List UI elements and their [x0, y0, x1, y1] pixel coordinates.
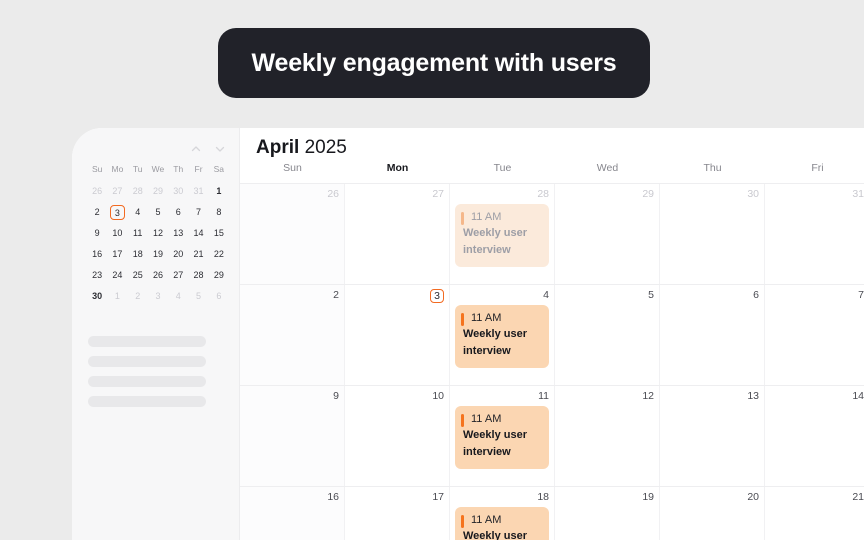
- mini-day[interactable]: 28: [188, 265, 208, 286]
- mini-day-number: 12: [150, 226, 165, 241]
- mini-day-number: 4: [171, 289, 186, 304]
- skeleton-bar: [88, 396, 206, 407]
- mini-day[interactable]: 14: [188, 223, 208, 244]
- mini-day-number: 29: [211, 268, 226, 283]
- mini-weekday-sa: Sa: [209, 164, 229, 181]
- week-row: 9101111 AMWeekly userinterview12131415: [240, 386, 864, 487]
- mini-day-number: 28: [191, 268, 206, 283]
- mini-day[interactable]: 15: [209, 223, 229, 244]
- day-cell-today[interactable]: 3: [345, 285, 450, 385]
- event-title: Weekly userinterview: [463, 225, 542, 259]
- sidebar: SuMoTuWeThFrSa 2627282930311234567891011…: [72, 128, 240, 540]
- day-number: 12: [560, 390, 654, 403]
- banner-title: Weekly engagement with users: [252, 49, 617, 78]
- mini-week-row: 23242526272829: [87, 265, 229, 286]
- mini-day-number: 27: [171, 268, 186, 283]
- mini-day[interactable]: 29: [209, 265, 229, 286]
- mini-weekday-we: We: [148, 164, 168, 181]
- mini-day-number: 5: [150, 205, 165, 220]
- calendar-main: April 2025 SunMonTueWedThuFriSat 2627281…: [240, 128, 864, 540]
- mini-day[interactable]: 18: [128, 244, 148, 265]
- day-cell[interactable]: 14: [765, 386, 864, 486]
- day-number: 31: [770, 188, 864, 201]
- day-number: 19: [560, 491, 654, 504]
- day-cell[interactable]: 7: [765, 285, 864, 385]
- event-accent-bar: [461, 414, 464, 427]
- mini-day-number: 7: [191, 205, 206, 220]
- skeleton-bar: [88, 376, 206, 387]
- weekday-header-thu: Thu: [660, 162, 765, 183]
- mini-weekday-fr: Fr: [188, 164, 208, 181]
- day-cell[interactable]: 10: [345, 386, 450, 486]
- event-time: 11 AM: [463, 210, 542, 224]
- mini-day-number: 26: [150, 268, 165, 283]
- mini-day-number: 30: [90, 289, 105, 304]
- mini-day[interactable]: 9: [87, 223, 107, 244]
- day-cell[interactable]: 2811 AMWeekly userinterview: [450, 184, 555, 284]
- day-cell[interactable]: 30: [660, 184, 765, 284]
- mini-day[interactable]: 7: [188, 202, 208, 223]
- mini-day-number: 15: [211, 226, 226, 241]
- day-number: 17: [350, 491, 444, 504]
- calendar-app-card: SuMoTuWeThFrSa 2627282930311234567891011…: [72, 128, 864, 540]
- mini-calendar-table: SuMoTuWeThFrSa 2627282930311234567891011…: [87, 164, 229, 307]
- mini-day-number: 13: [171, 226, 186, 241]
- calendar-event[interactable]: 11 AMWeekly userinterview: [455, 406, 549, 469]
- mini-calendar[interactable]: SuMoTuWeThFrSa 2627282930311234567891011…: [87, 164, 229, 307]
- day-number: 30: [665, 188, 759, 201]
- day-number: 3: [350, 289, 444, 302]
- mini-day-number: 2: [130, 289, 145, 304]
- mini-day[interactable]: 26: [148, 265, 168, 286]
- mini-day-number: 1: [110, 289, 125, 304]
- day-number: 20: [665, 491, 759, 504]
- mini-day-number: 17: [110, 247, 125, 262]
- mini-day-number: 24: [110, 268, 125, 283]
- mini-day[interactable]: 16: [87, 244, 107, 265]
- mini-day[interactable]: 6: [168, 202, 188, 223]
- event-time: 11 AM: [463, 513, 542, 527]
- event-accent-bar: [461, 515, 464, 528]
- mini-day-number: 6: [171, 205, 186, 220]
- mini-day-number: 19: [150, 247, 165, 262]
- day-number: 28: [455, 188, 549, 201]
- mini-day-number: 16: [90, 247, 105, 262]
- day-cell[interactable]: 6: [660, 285, 765, 385]
- mini-calendar-nav: [189, 142, 227, 156]
- mini-weekday-th: Th: [168, 164, 188, 181]
- weekday-header-fri: Fri: [765, 162, 864, 183]
- day-cell[interactable]: 16: [240, 487, 345, 540]
- mini-week-row: 16171819202122: [87, 244, 229, 265]
- mini-day[interactable]: 13: [168, 223, 188, 244]
- mini-day[interactable]: 8: [209, 202, 229, 223]
- mini-day-number: 14: [191, 226, 206, 241]
- day-cell[interactable]: 20: [660, 487, 765, 540]
- mini-day-number: 1: [211, 184, 226, 199]
- day-cell[interactable]: 19: [555, 487, 660, 540]
- day-cell[interactable]: 5: [555, 285, 660, 385]
- title-month: April: [256, 137, 299, 158]
- mini-day-number: 5: [191, 289, 206, 304]
- mini-day[interactable]: 24: [107, 265, 127, 286]
- day-cell[interactable]: 12: [555, 386, 660, 486]
- title-year: 2025: [305, 137, 347, 158]
- skeleton-bar: [88, 356, 206, 367]
- mini-day[interactable]: 1: [209, 181, 229, 202]
- day-cell[interactable]: 2: [240, 285, 345, 385]
- mini-day[interactable]: 10: [107, 223, 127, 244]
- sidebar-skeleton-list: [88, 336, 206, 416]
- mini-day-number: 8: [211, 205, 226, 220]
- event-title: Weekly userinterview: [463, 427, 542, 461]
- day-cell[interactable]: 17: [345, 487, 450, 540]
- mini-day[interactable]: 3: [148, 286, 168, 307]
- day-number: 6: [665, 289, 759, 302]
- week-row: 23411 AMWeekly userinterview5678: [240, 285, 864, 386]
- mini-day[interactable]: 20: [168, 244, 188, 265]
- weekday-header-wed: Wed: [555, 162, 660, 183]
- mini-day[interactable]: 28: [128, 181, 148, 202]
- mini-day[interactable]: 31: [188, 181, 208, 202]
- mini-day-number: 27: [110, 184, 125, 199]
- weekday-header-row: SunMonTueWedThuFriSat: [240, 162, 864, 183]
- mini-day[interactable]: 2: [87, 202, 107, 223]
- mini-day-number: 25: [130, 268, 145, 283]
- mini-day-number: 22: [211, 247, 226, 262]
- mini-day[interactable]: 4: [128, 202, 148, 223]
- month-grid: 26272811 AMWeekly userinterview293031123…: [240, 183, 864, 540]
- chevron-up-icon[interactable]: [189, 142, 203, 156]
- mini-day-number: 30: [171, 184, 186, 199]
- day-cell[interactable]: 1811 AMWeekly userinterview: [450, 487, 555, 540]
- event-title: Weekly userinterview: [463, 326, 542, 360]
- event-time: 11 AM: [463, 311, 542, 325]
- day-number: 21: [770, 491, 864, 504]
- mini-day-number: 31: [191, 184, 206, 199]
- mini-day-number: 21: [191, 247, 206, 262]
- mini-week-row: 9101112131415: [87, 223, 229, 244]
- weekday-header-tue: Tue: [450, 162, 555, 183]
- mini-day-number: 28: [130, 184, 145, 199]
- mini-day[interactable]: 27: [107, 181, 127, 202]
- day-cell[interactable]: 13: [660, 386, 765, 486]
- mini-day[interactable]: 6: [209, 286, 229, 307]
- mini-day[interactable]: 27: [168, 265, 188, 286]
- day-number: 27: [350, 188, 444, 201]
- mini-day[interactable]: 19: [148, 244, 168, 265]
- page-title: April 2025: [256, 137, 347, 159]
- event-accent-bar: [461, 212, 464, 225]
- mini-day[interactable]: 26: [87, 181, 107, 202]
- mini-week-row: 2345678: [87, 202, 229, 223]
- mini-day-today[interactable]: 3: [107, 202, 127, 223]
- day-cell[interactable]: 411 AMWeekly userinterview: [450, 285, 555, 385]
- day-cell[interactable]: 9: [240, 386, 345, 486]
- mini-calendar-weekday-row: SuMoTuWeThFrSa: [87, 164, 229, 181]
- mini-day[interactable]: 29: [148, 181, 168, 202]
- mini-day-number: 29: [150, 184, 165, 199]
- day-number: 13: [665, 390, 759, 403]
- mini-day-number: 11: [130, 226, 145, 241]
- chevron-down-icon[interactable]: [213, 142, 227, 156]
- mini-day-number: 2: [90, 205, 105, 220]
- mini-day[interactable]: 30: [87, 286, 107, 307]
- day-number: 18: [455, 491, 549, 504]
- day-cell[interactable]: 1111 AMWeekly userinterview: [450, 386, 555, 486]
- mini-week-row: 30123456: [87, 286, 229, 307]
- mini-weekday-su: Su: [87, 164, 107, 181]
- mini-day[interactable]: 11: [128, 223, 148, 244]
- mini-day[interactable]: 4: [168, 286, 188, 307]
- day-cell[interactable]: 21: [765, 487, 864, 540]
- mini-day-number: 18: [130, 247, 145, 262]
- event-time: 11 AM: [463, 412, 542, 426]
- mini-calendar-body: 2627282930311234567891011121314151617181…: [87, 181, 229, 307]
- weekday-header-mon: Mon: [345, 162, 450, 183]
- mini-day-number: 26: [90, 184, 105, 199]
- weekday-header-sun: Sun: [240, 162, 345, 183]
- mini-day[interactable]: 17: [107, 244, 127, 265]
- day-number: 11: [455, 390, 549, 403]
- event-title: Weekly userinterview: [463, 528, 542, 540]
- mini-day[interactable]: 1: [107, 286, 127, 307]
- mini-day-number: 23: [90, 268, 105, 283]
- calendar-event[interactable]: 11 AMWeekly userinterview: [455, 305, 549, 368]
- day-number: 26: [245, 188, 339, 201]
- day-cell[interactable]: 29: [555, 184, 660, 284]
- mini-day[interactable]: 5: [148, 202, 168, 223]
- calendar-event[interactable]: 11 AMWeekly userinterview: [455, 507, 549, 540]
- calendar-event[interactable]: 11 AMWeekly userinterview: [455, 204, 549, 267]
- event-accent-bar: [461, 313, 464, 326]
- day-number: 29: [560, 188, 654, 201]
- mini-day-number: 10: [110, 226, 125, 241]
- mini-day[interactable]: 22: [209, 244, 229, 265]
- mini-day-number: 4: [130, 205, 145, 220]
- week-row: 16171811 AMWeekly userinterview19202122: [240, 487, 864, 540]
- week-row: 26272811 AMWeekly userinterview2930311: [240, 184, 864, 285]
- day-cell[interactable]: 31: [765, 184, 864, 284]
- mini-day[interactable]: 21: [188, 244, 208, 265]
- mini-day-number: 20: [171, 247, 186, 262]
- day-cell[interactable]: 27: [345, 184, 450, 284]
- mini-day-number: 3: [150, 289, 165, 304]
- day-number: 7: [770, 289, 864, 302]
- day-cell[interactable]: 26: [240, 184, 345, 284]
- day-number: 10: [350, 390, 444, 403]
- day-number: 9: [245, 390, 339, 403]
- mini-day[interactable]: 5: [188, 286, 208, 307]
- mini-day-number: 9: [90, 226, 105, 241]
- today-marker: 3: [430, 289, 444, 303]
- day-number: 2: [245, 289, 339, 302]
- mini-day-number: 6: [211, 289, 226, 304]
- mini-day[interactable]: 30: [168, 181, 188, 202]
- day-number: 14: [770, 390, 864, 403]
- mini-day[interactable]: 23: [87, 265, 107, 286]
- skeleton-bar: [88, 336, 206, 347]
- day-number: 4: [455, 289, 549, 302]
- mini-day[interactable]: 12: [148, 223, 168, 244]
- page-banner: Weekly engagement with users: [218, 28, 650, 98]
- mini-day[interactable]: 25: [128, 265, 148, 286]
- day-number: 5: [560, 289, 654, 302]
- day-number: 16: [245, 491, 339, 504]
- mini-day-number: 3: [110, 205, 125, 220]
- mini-weekday-mo: Mo: [107, 164, 127, 181]
- mini-day[interactable]: 2: [128, 286, 148, 307]
- mini-week-row: 2627282930311: [87, 181, 229, 202]
- mini-weekday-tu: Tu: [128, 164, 148, 181]
